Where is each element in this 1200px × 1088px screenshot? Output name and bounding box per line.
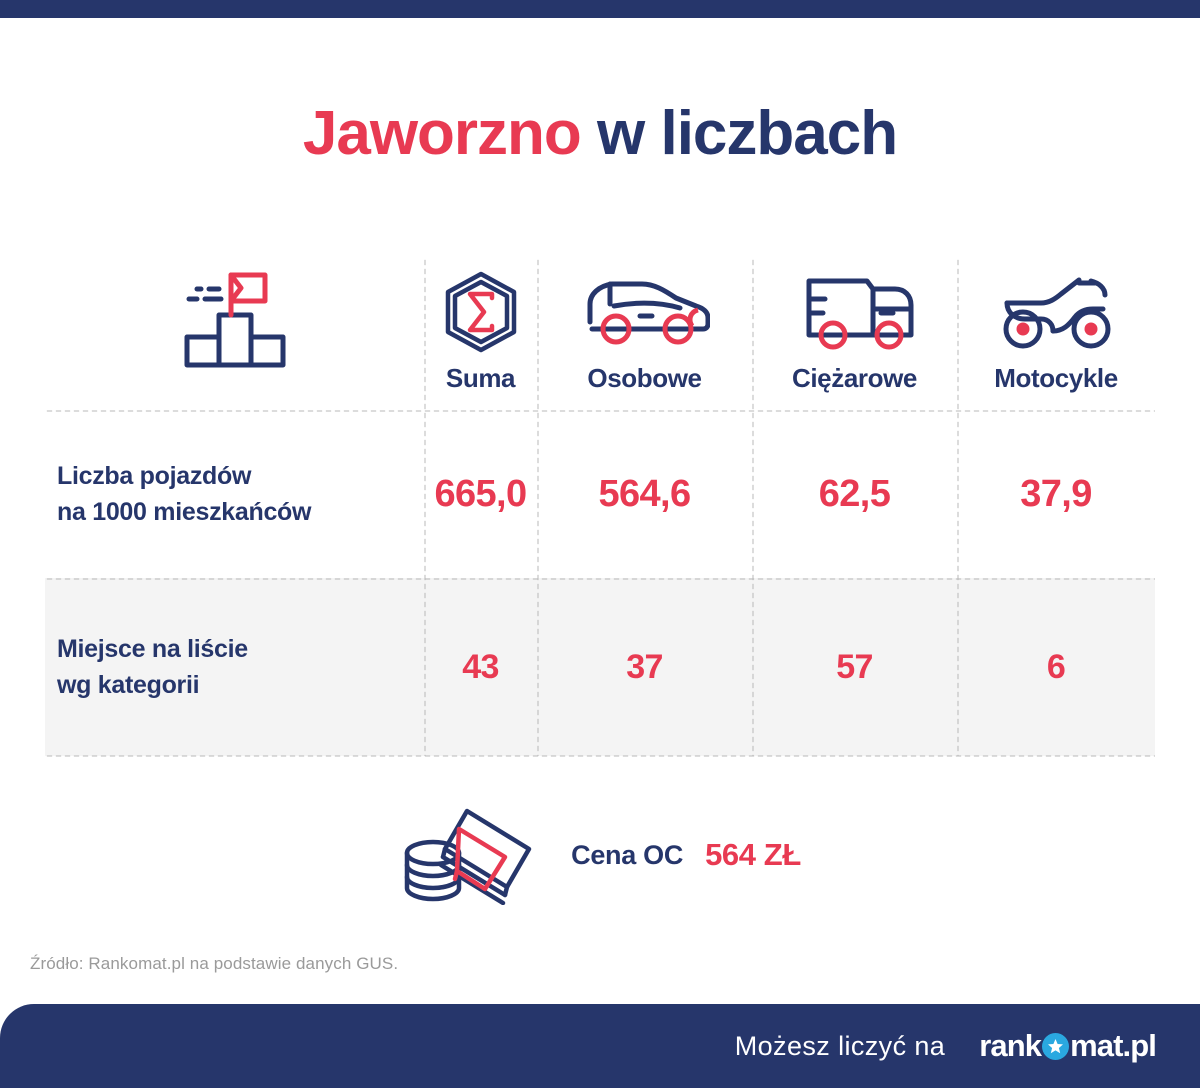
- row-label-line2: na 1000 mieszkańców: [57, 494, 311, 530]
- column-header-ciezarowe: Ciężarowe: [752, 250, 957, 410]
- cell-value: 564,6: [537, 410, 752, 578]
- cell-row2-motocykle: 6: [957, 578, 1155, 756]
- cell-row2-suma: 43: [424, 578, 537, 756]
- footer-bar: Możesz liczyć na rank mat.pl: [0, 1004, 1200, 1088]
- price-label: Cena OC: [571, 840, 683, 871]
- row-label: Miejsce na liście wg kategorii: [45, 578, 424, 756]
- table-row: Liczba pojazdów na 1000 mieszkańców: [45, 410, 424, 578]
- footer-slogan: Możesz liczyć na: [735, 1031, 945, 1062]
- motorcycle-icon: [993, 273, 1119, 351]
- cell-value: 665,0: [424, 410, 537, 578]
- row-label-line2: wg kategorii: [57, 667, 248, 703]
- logo-text-part1: rank: [979, 1028, 1041, 1064]
- cell-row1-ciezarowe: 62,5: [752, 410, 957, 578]
- cell-value: 43: [424, 578, 537, 756]
- logo-text-part2: mat.pl: [1070, 1028, 1156, 1064]
- table-corner-cell: [45, 250, 424, 410]
- cell-row2-osobowe: 37: [537, 578, 752, 756]
- top-accent-bar: [0, 0, 1200, 18]
- row-label: Liczba pojazdów na 1000 mieszkańców: [45, 410, 424, 578]
- price-value: 564 ZŁ: [705, 837, 801, 873]
- cell-value: 57: [752, 578, 957, 756]
- column-header-label: Suma: [446, 363, 515, 394]
- sigma-hexagon-icon: [442, 273, 520, 351]
- cell-value: 37,9: [957, 410, 1155, 578]
- money-cash-icon: [399, 805, 549, 905]
- page-title: Jaworzno w liczbach: [0, 98, 1200, 169]
- page-title-highlight: Jaworzno: [303, 99, 581, 168]
- star-icon: [1042, 1033, 1069, 1060]
- cell-value: 6: [957, 578, 1155, 756]
- column-header-motocykle: Motocykle: [957, 250, 1155, 410]
- column-header-suma: Suma: [424, 250, 537, 410]
- truck-icon: [791, 273, 919, 351]
- podium-flag-icon: [175, 267, 295, 376]
- column-header-label: Motocykle: [994, 363, 1118, 394]
- cell-row1-osobowe: 564,6: [537, 410, 752, 578]
- column-header-label: Osobowe: [587, 363, 701, 394]
- cell-value: 37: [537, 578, 752, 756]
- cell-row2-ciezarowe: 57: [752, 578, 957, 756]
- stats-table: Suma Osobowe: [45, 250, 1155, 756]
- column-header-label: Ciężarowe: [792, 363, 917, 394]
- page-title-rest: w liczbach: [581, 99, 897, 168]
- cell-value: 62,5: [752, 410, 957, 578]
- row-label-line1: Liczba pojazdów: [57, 458, 311, 494]
- column-header-osobowe: Osobowe: [537, 250, 752, 410]
- rankomat-logo[interactable]: rank mat.pl: [979, 1028, 1156, 1064]
- table-row: Miejsce na liście wg kategorii: [45, 578, 424, 756]
- car-icon: [580, 273, 710, 351]
- cell-row1-suma: 665,0: [424, 410, 537, 578]
- cell-row1-motocykle: 37,9: [957, 410, 1155, 578]
- row-label-line1: Miejsce na liście: [57, 631, 248, 667]
- source-note: Źródło: Rankomat.pl na podstawie danych …: [30, 954, 398, 974]
- price-section: Cena OC 564 ZŁ: [0, 805, 1200, 905]
